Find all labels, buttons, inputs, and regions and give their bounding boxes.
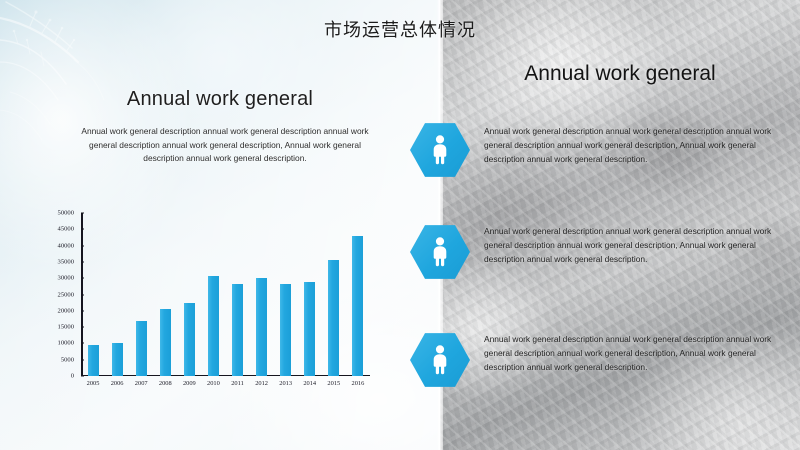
bar-slot: 2016 (346, 213, 370, 376)
bar-slot: 2015 (322, 213, 346, 376)
chart-x-tick: 2013 (279, 380, 292, 387)
slide-title: 市场运营总体情况 (0, 16, 800, 42)
chart-x-tick: 2008 (159, 380, 172, 387)
chart-y-tick: 30000 (24, 275, 78, 282)
chart-plot-area: 2005200620072008200920102011201220132014… (81, 213, 370, 376)
feature-text-2: Annual work general description annual w… (484, 222, 795, 266)
chart-bar[interactable] (112, 343, 123, 376)
slide-canvas: 市场运营总体情况 Annual work general Annual work… (0, 0, 800, 450)
chart-bar[interactable] (256, 278, 267, 376)
chart-y-tick-mark (81, 310, 84, 311)
chart-bar[interactable] (328, 260, 339, 376)
bar-slot: 2009 (177, 213, 201, 376)
feature-item-3[interactable]: Annual work general description annual w… (410, 330, 795, 388)
chart-bar[interactable] (352, 236, 363, 376)
chart-y-tick: 20000 (24, 307, 78, 314)
chart-bar[interactable] (304, 282, 315, 376)
bar-slot: 2005 (81, 213, 105, 376)
chart-y-tick: 5000 (24, 356, 78, 363)
chart-x-tick: 2011 (231, 380, 244, 387)
bar-chart: 2005200620072008200920102011201220132014… (24, 213, 384, 398)
left-description: Annual work general description annual w… (80, 125, 370, 166)
chart-y-tick-mark (81, 359, 84, 360)
chart-x-tick: 2012 (255, 380, 268, 387)
person-icon (410, 224, 470, 280)
feature-text-1: Annual work general description annual w… (484, 120, 795, 166)
chart-y-tick: 45000 (24, 226, 78, 233)
chart-y-tick: 50000 (24, 210, 78, 217)
chart-bar[interactable] (232, 284, 243, 376)
person-icon (410, 332, 470, 388)
chart-y-tick-mark (81, 376, 84, 377)
chart-bar[interactable] (184, 303, 195, 376)
chart-bars: 2005200620072008200920102011201220132014… (81, 213, 370, 376)
chart-x-tick: 2006 (111, 380, 124, 387)
bar-slot: 2007 (129, 213, 153, 376)
right-heading: Annual work general (450, 62, 790, 86)
chart-bar[interactable] (208, 276, 219, 376)
bar-slot: 2010 (201, 213, 225, 376)
chart-y-tick: 40000 (24, 242, 78, 249)
chart-y-tick-mark (81, 278, 84, 279)
bar-slot: 2012 (250, 213, 274, 376)
bar-slot: 2011 (225, 213, 249, 376)
chart-y-tick: 0 (24, 373, 78, 380)
feature-item-1[interactable]: Annual work general description annual w… (410, 120, 795, 178)
bar-slot: 2013 (274, 213, 298, 376)
chart-bar[interactable] (160, 309, 171, 376)
left-heading: Annual work general (30, 88, 410, 111)
bar-slot: 2008 (153, 213, 177, 376)
chart-y-tick-mark (81, 245, 84, 246)
chart-y-tick-mark (81, 261, 84, 262)
feature-text-3: Annual work general description annual w… (484, 330, 795, 374)
chart-bar[interactable] (136, 321, 147, 376)
chart-x-tick: 2007 (135, 380, 148, 387)
chart-x-tick: 2005 (87, 380, 100, 387)
person-icon (410, 122, 470, 178)
bar-slot: 2014 (298, 213, 322, 376)
bar-slot: 2006 (105, 213, 129, 376)
chart-y-tick: 15000 (24, 324, 78, 331)
chart-x-tick: 2016 (352, 380, 365, 387)
chart-y-tick: 10000 (24, 340, 78, 347)
chart-y-tick-mark (81, 294, 84, 295)
chart-bar[interactable] (88, 345, 99, 376)
chart-y-tick: 35000 (24, 258, 78, 265)
chart-y-tick-mark (81, 343, 84, 344)
chart-x-tick: 2009 (183, 380, 196, 387)
feature-item-2[interactable]: Annual work general description annual w… (410, 222, 795, 280)
chart-y-tick-mark (81, 327, 84, 328)
chart-x-tick: 2014 (303, 380, 316, 387)
chart-y-tick: 25000 (24, 291, 78, 298)
chart-x-tick: 2015 (327, 380, 340, 387)
chart-x-tick: 2010 (207, 380, 220, 387)
chart-y-tick-mark (81, 213, 84, 214)
chart-bar[interactable] (280, 284, 291, 376)
chart-y-tick-mark (81, 229, 84, 230)
